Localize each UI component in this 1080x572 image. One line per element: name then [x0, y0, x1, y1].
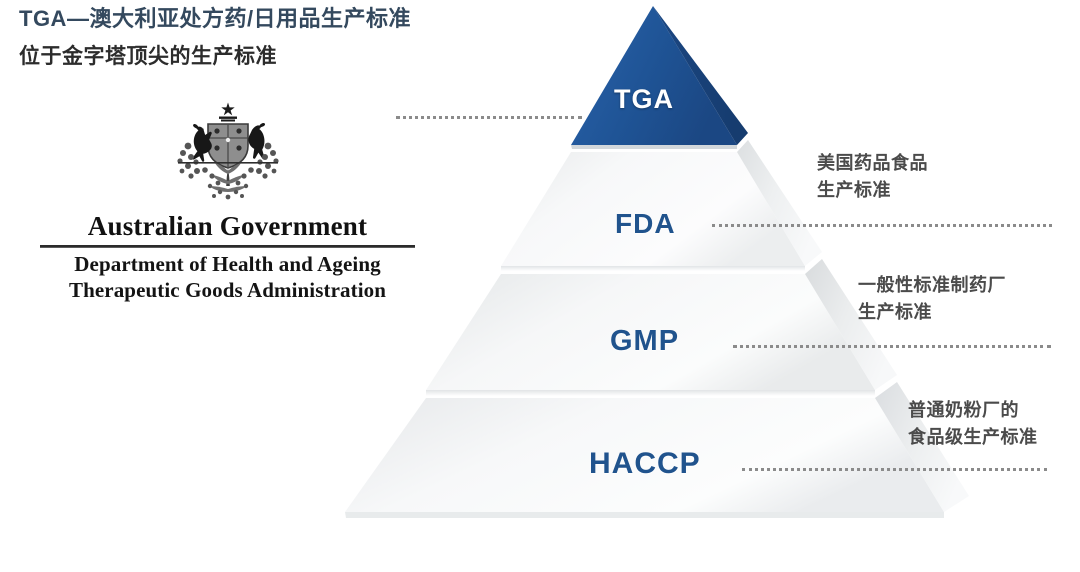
tier-label-gmp: GMP [610, 325, 679, 358]
pyramid-tier-fda[interactable] [501, 140, 822, 271]
leader-line-haccp [742, 468, 1047, 471]
tier-label-haccp: HACCP [589, 447, 701, 481]
callout-haccp-line: 普通奶粉厂的食品级生产标准 [908, 397, 1038, 451]
leader-line-tga [396, 116, 582, 119]
tier-label-tga: TGA [614, 84, 674, 115]
leader-line-fda [712, 224, 1052, 227]
callout-haccp: 普通奶粉厂的食品级生产标准 [908, 397, 1038, 451]
callout-gmp-line: 一般性标准制药厂生产标准 [858, 272, 1006, 326]
callout-gmp: 一般性标准制药厂生产标准 [858, 272, 1006, 326]
tier-label-fda: FDA [615, 208, 676, 240]
pyramid-tier-tga[interactable] [571, 6, 748, 149]
callout-fda-line: 美国药品食品生产标准 [817, 150, 928, 204]
pyramid-infographic: TGA—澳大利亚处方药/日用品生产标准 位于金字塔顶尖的生产标准 [0, 0, 1080, 572]
callout-fda: 美国药品食品生产标准 [817, 150, 928, 204]
leader-line-gmp [733, 345, 1051, 348]
